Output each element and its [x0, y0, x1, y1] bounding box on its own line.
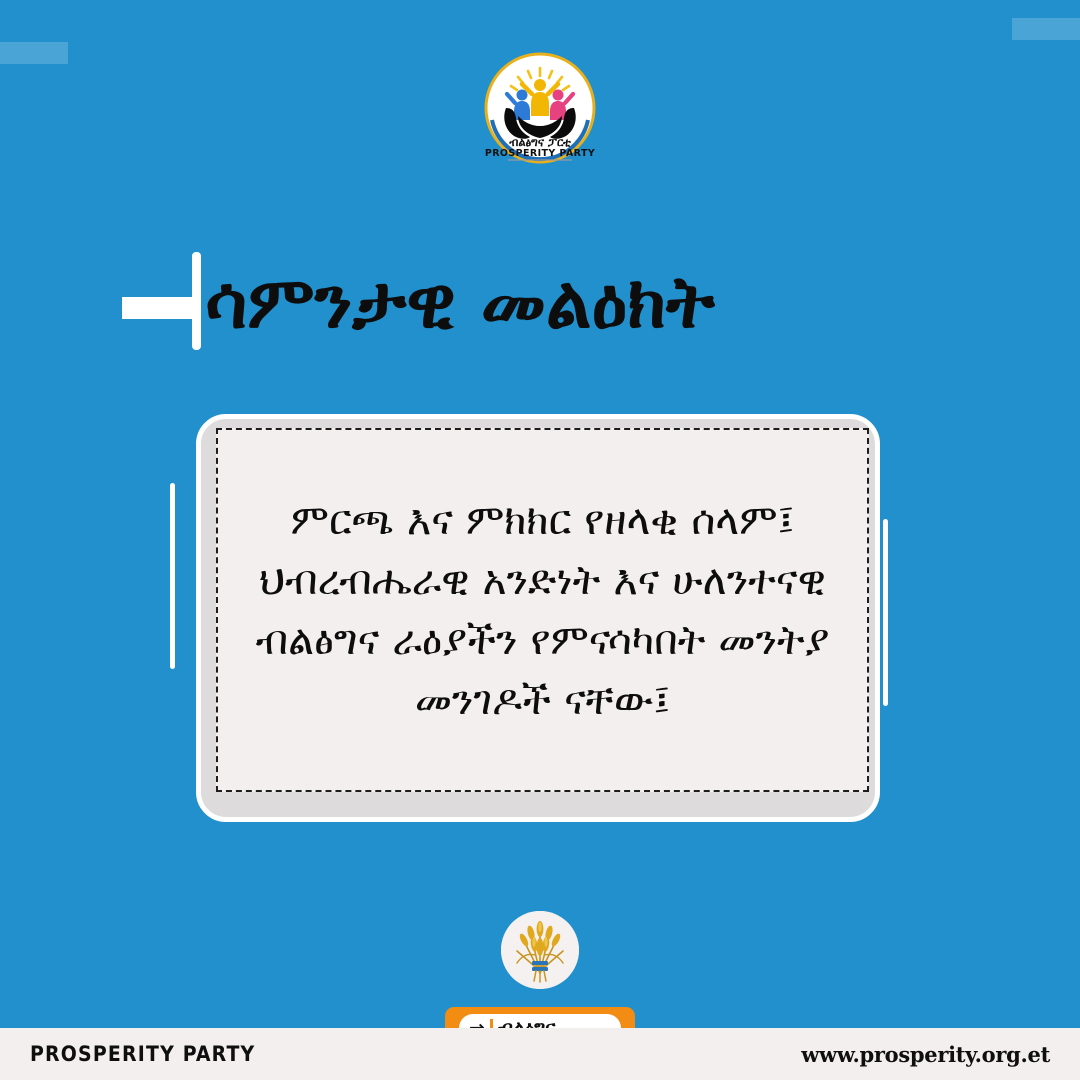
accent-bar-top-right	[1012, 18, 1080, 40]
prosperity-party-logo: ብልፅግና ፓርቲ PROSPERITY PARTY	[484, 52, 596, 164]
footer-brand: PROSPERITY PARTY	[30, 1042, 255, 1066]
message-card: ምርጫ እና ምክክር የዘላቂ ሰላም፤ ህብረብሔራዊ አንድነት እና ሁ…	[196, 414, 880, 822]
message-card-inner: ምርጫ እና ምክክር የዘላቂ ሰላም፤ ህብረብሔራዊ አንድነት እና ሁ…	[216, 428, 869, 792]
vertical-tick-right-icon	[883, 519, 888, 706]
svg-text:PROSPERITY PARTY: PROSPERITY PARTY	[485, 148, 595, 159]
page-title: ሳምንታዊ መልዕክት	[205, 252, 715, 352]
message-text: ምርጫ እና ምክክር የዘላቂ ሰላም፤ ህብረብሔራዊ አንድነት እና ሁ…	[218, 490, 867, 730]
vertical-rule-decoration-icon	[192, 252, 201, 350]
vertical-tick-left-icon	[170, 483, 175, 669]
page-title-row: ሳምንታዊ መልዕክት	[0, 252, 1080, 356]
svg-text:ብልፅግና ፓርቲ: ብልፅግና ፓርቲ	[509, 135, 572, 149]
footer-bar: PROSPERITY PARTY www.prosperity.org.et	[0, 1028, 1080, 1080]
accent-bar-top-left	[0, 42, 68, 64]
horizontal-rule-decoration-icon	[122, 297, 200, 319]
wheat-sheaf-icon	[501, 911, 579, 989]
poster-canvas: ብልፅግና ፓርቲ PROSPERITY PARTY ሳምንታዊ መልዕክት ም…	[0, 0, 1080, 1080]
footer-url[interactable]: www.prosperity.org.et	[801, 1042, 1050, 1067]
